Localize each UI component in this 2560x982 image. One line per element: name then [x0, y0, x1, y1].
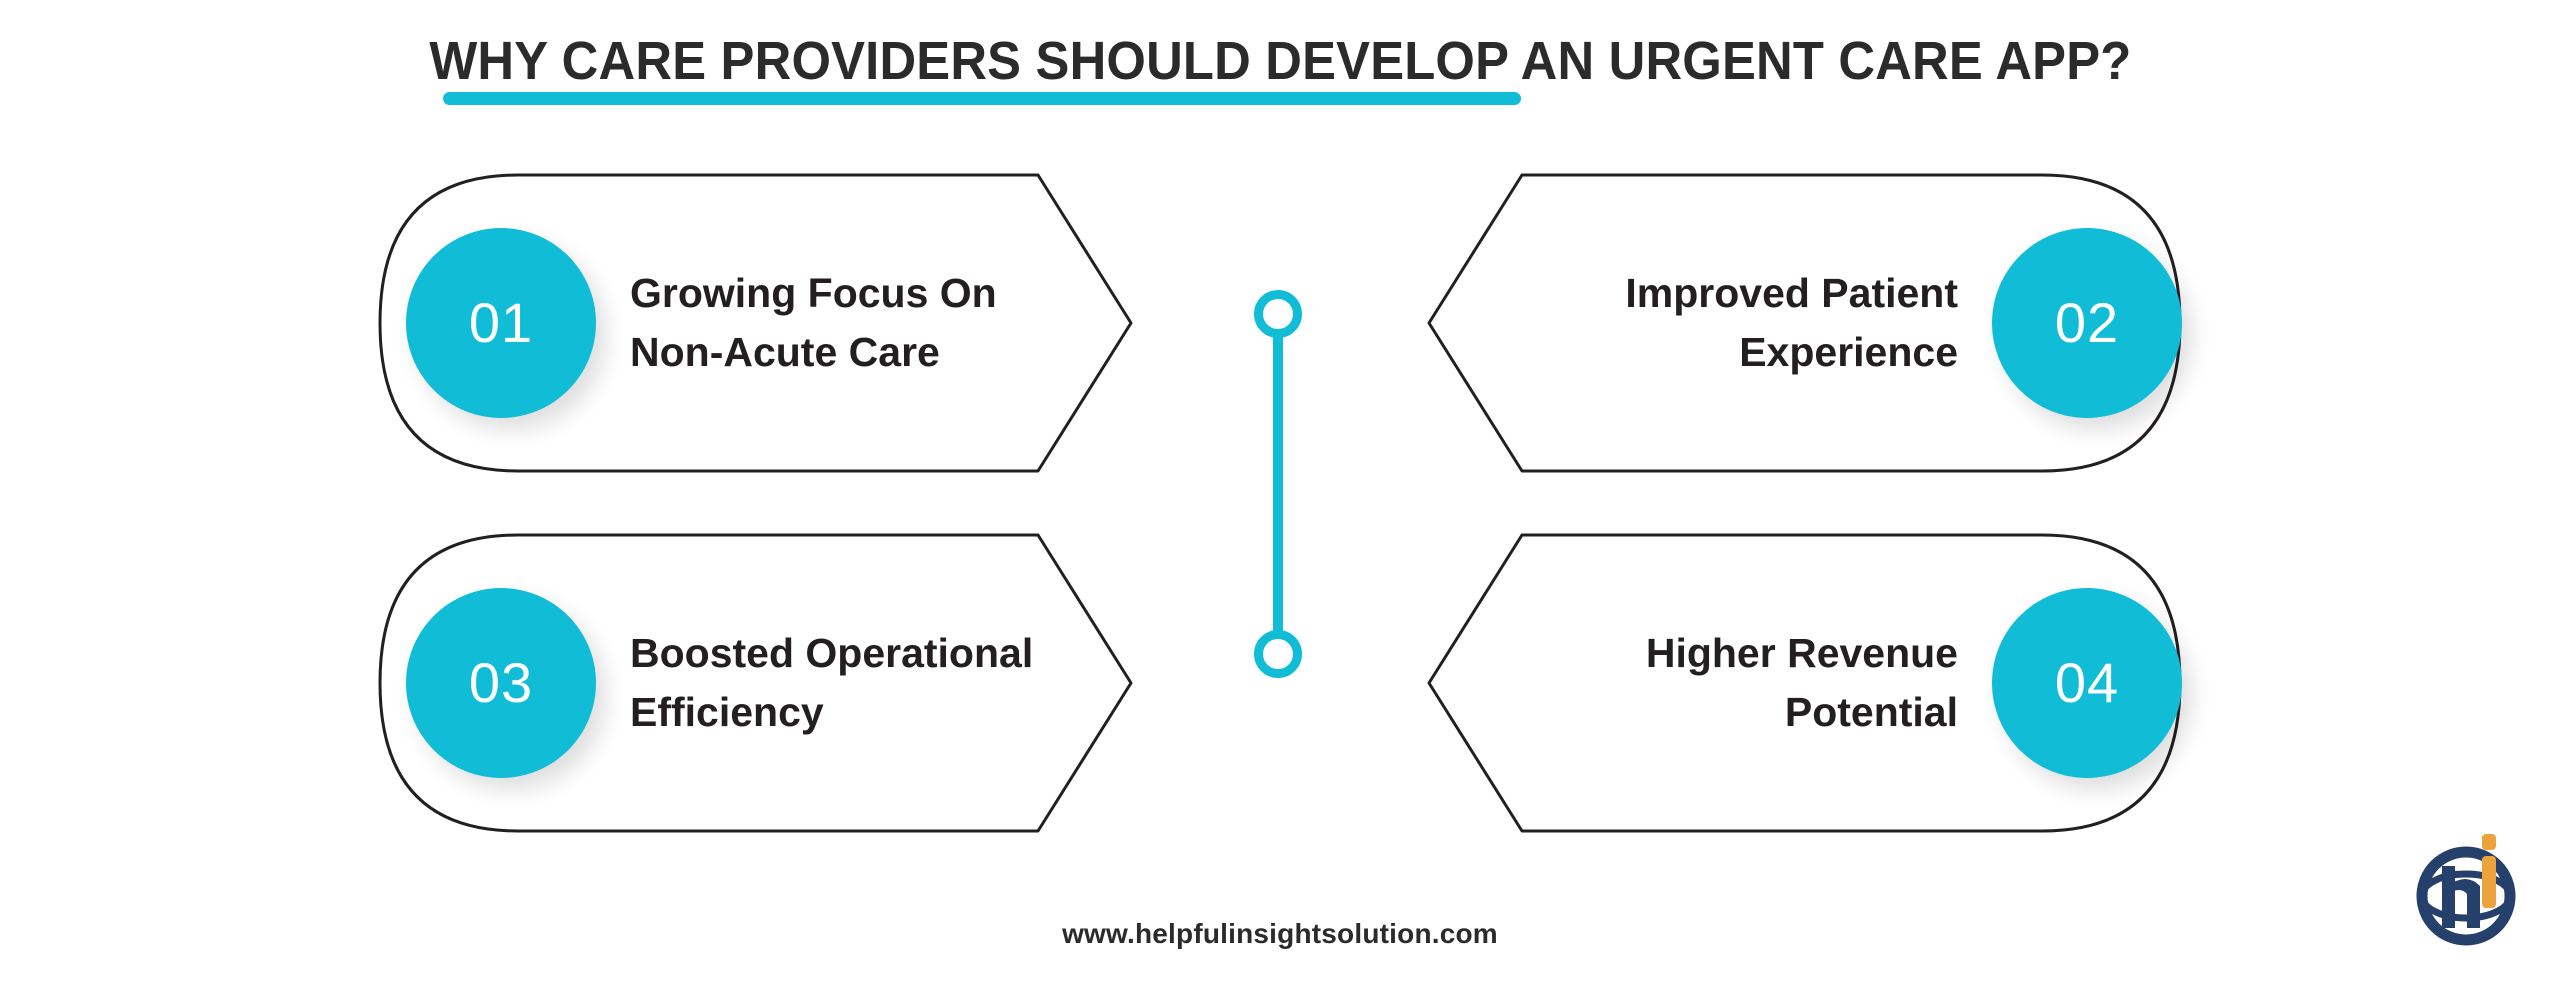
- card-03-number: 03: [469, 655, 533, 711]
- footer-website-url[interactable]: www.helpfulinsightsolution.com: [0, 918, 2560, 950]
- card-04[interactable]: 04 Higher Revenue Potential: [1427, 533, 2182, 833]
- card-03-title-line1: Boosted Operational: [630, 630, 1033, 676]
- card-02-title-line2: Experience: [1739, 329, 1958, 375]
- card-01-content: 01 Growing Focus On Non-Acute Care: [378, 173, 1161, 473]
- card-02-number-badge: 02: [1992, 228, 2182, 418]
- card-04-title: Higher Revenue Potential: [1427, 624, 1992, 743]
- card-03-number-badge: 03: [406, 588, 596, 778]
- card-03-title-line2: Efficiency: [630, 689, 824, 735]
- card-01[interactable]: 01 Growing Focus On Non-Acute Care: [378, 173, 1133, 473]
- card-04-number: 04: [2055, 655, 2119, 711]
- card-01-title-line2: Non-Acute Care: [630, 329, 940, 375]
- brand-logo-icon: [2408, 828, 2536, 956]
- connector-line: [1273, 314, 1283, 654]
- card-04-number-badge: 04: [1992, 588, 2182, 778]
- card-01-title: Growing Focus On Non-Acute Care: [596, 264, 1161, 383]
- page-title: WHY CARE PROVIDERS SHOULD DEVELOP AN URG…: [429, 34, 2131, 88]
- infographic-canvas: WHY CARE PROVIDERS SHOULD DEVELOP AN URG…: [0, 0, 2560, 982]
- card-03-title: Boosted Operational Efficiency: [596, 624, 1161, 743]
- card-01-number-badge: 01: [406, 228, 596, 418]
- title-block: WHY CARE PROVIDERS SHOULD DEVELOP AN URG…: [0, 34, 2560, 88]
- card-02-number: 02: [2055, 295, 2119, 351]
- center-connector: [1246, 290, 1310, 710]
- card-02-title-line1: Improved Patient: [1625, 270, 1958, 316]
- card-03[interactable]: 03 Boosted Operational Efficiency: [378, 533, 1133, 833]
- card-02[interactable]: 02 Improved Patient Experience: [1427, 173, 2182, 473]
- card-04-content: 04 Higher Revenue Potential: [1427, 533, 2210, 833]
- connector-node-bottom-icon: [1254, 630, 1302, 678]
- card-04-title-line1: Higher Revenue: [1646, 630, 1958, 676]
- card-01-number: 01: [469, 295, 533, 351]
- card-01-title-line1: Growing Focus On: [630, 270, 997, 316]
- card-03-content: 03 Boosted Operational Efficiency: [378, 533, 1161, 833]
- card-04-title-line2: Potential: [1785, 689, 1958, 735]
- card-02-title: Improved Patient Experience: [1427, 264, 1992, 383]
- title-underline-accent: [443, 92, 1521, 105]
- card-02-content: 02 Improved Patient Experience: [1427, 173, 2210, 473]
- connector-node-top-icon: [1254, 290, 1302, 338]
